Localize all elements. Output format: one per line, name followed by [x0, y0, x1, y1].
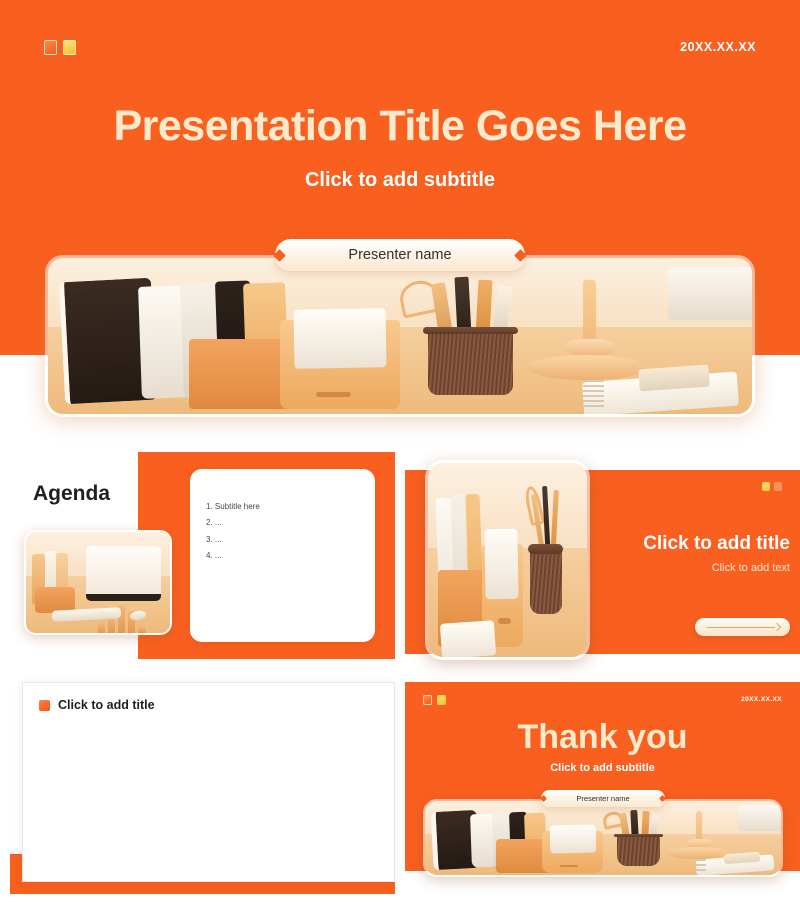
thank-you-title: Thank you: [405, 718, 800, 757]
presenter-name-badge[interactable]: Presenter name: [275, 239, 525, 271]
content-slide-title[interactable]: Click to add title: [595, 533, 790, 555]
presenter-name-badge[interactable]: Presenter name: [541, 790, 665, 807]
orange-square-icon: [44, 40, 57, 55]
content-slide-body[interactable]: Click to add text: [595, 562, 790, 574]
agenda-title: Agenda: [33, 482, 110, 506]
agenda-list[interactable]: 1. Subtitle here 2. ... 3. ... 4. ...: [206, 499, 260, 565]
list-item: 2. ...: [206, 515, 260, 531]
brand-logo-marks: [423, 695, 446, 705]
thank-you-subtitle[interactable]: Click to add subtitle: [405, 762, 800, 774]
arrow-forward-button[interactable]: [695, 618, 790, 636]
orange-square-bullet-icon: [39, 700, 50, 711]
blank-slide-card: Click to add title: [22, 682, 395, 882]
list-item: 1. Subtitle here: [206, 499, 260, 515]
title-slide-subtitle[interactable]: Click to add subtitle: [0, 169, 800, 192]
yellow-square-icon: [63, 40, 76, 55]
blank-content-slide: Click to add title: [10, 682, 395, 894]
title-slide-image: [45, 255, 755, 417]
brand-logo-marks: [44, 40, 76, 55]
presenter-name-label: Presenter name: [546, 794, 660, 803]
slide-corner-marks: [762, 482, 782, 491]
thank-you-image: [423, 799, 783, 877]
presentation-template-preview: 20XX.XX.XX Presentation Title Goes Here …: [0, 0, 800, 902]
thank-you-slide: 20XX.XX.XX Thank you Click to add subtit…: [405, 682, 800, 871]
image-title-slide: Click to add title Click to add text: [405, 470, 800, 654]
thank-you-date: 20XX.XX.XX: [741, 696, 782, 703]
arrow-line-icon: [707, 627, 775, 628]
page-title: Presentation Title Goes Here: [0, 104, 800, 149]
list-item: 3. ...: [206, 532, 260, 548]
translucent-square-icon: [774, 482, 782, 491]
agenda-list-card: 1. Subtitle here 2. ... 3. ... 4. ...: [190, 469, 375, 642]
blank-slide-heading[interactable]: Click to add title: [39, 698, 155, 712]
yellow-square-icon: [437, 695, 446, 705]
agenda-slide: Agenda 1. Subtitle here 2. ... 3. ... 4.…: [0, 452, 395, 667]
yellow-square-icon: [762, 482, 770, 491]
blank-slide-title: Click to add title: [58, 698, 155, 712]
content-slide-image: [425, 460, 590, 660]
orange-square-icon: [423, 695, 432, 705]
arrow-right-icon: [773, 623, 781, 631]
presenter-name-label: Presenter name: [284, 247, 516, 263]
list-item: 4. ...: [206, 548, 260, 564]
title-slide-date: 20XX.XX.XX: [680, 40, 756, 54]
agenda-thumbnail-image: [24, 530, 172, 635]
